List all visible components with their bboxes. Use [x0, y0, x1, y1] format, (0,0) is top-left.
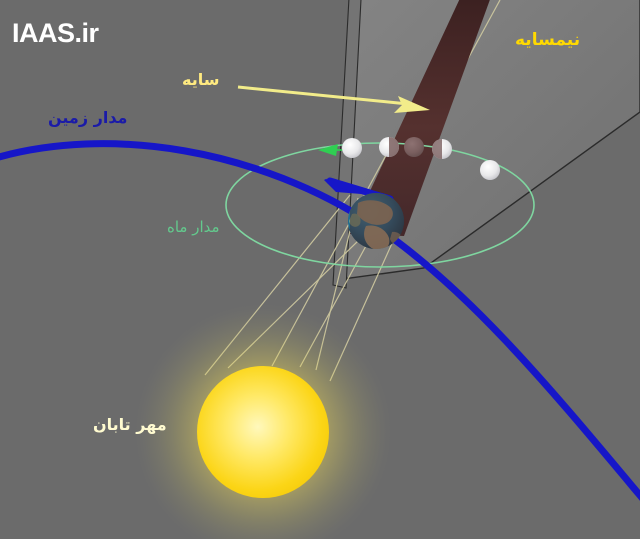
- sun-disc: [197, 366, 329, 498]
- moon-position-3: [404, 137, 424, 157]
- moon-position-1: [342, 138, 362, 158]
- sun-label: مهر تابان: [93, 415, 167, 434]
- earth-orbit-label: مدار زمین: [48, 108, 127, 127]
- watermark-text: IAAS.ir: [12, 18, 99, 49]
- moon-orbit-label: مدار ماه: [167, 218, 220, 236]
- moon-position-5: [480, 160, 500, 180]
- diagram-canvas: [0, 0, 640, 539]
- umbra-label: سایه: [182, 70, 219, 89]
- penumbra-label: نیمسایه: [515, 30, 580, 50]
- eclipse-diagram: IAAS.ir نیمسایه سایه مدار زمین مدار ماه …: [0, 0, 640, 539]
